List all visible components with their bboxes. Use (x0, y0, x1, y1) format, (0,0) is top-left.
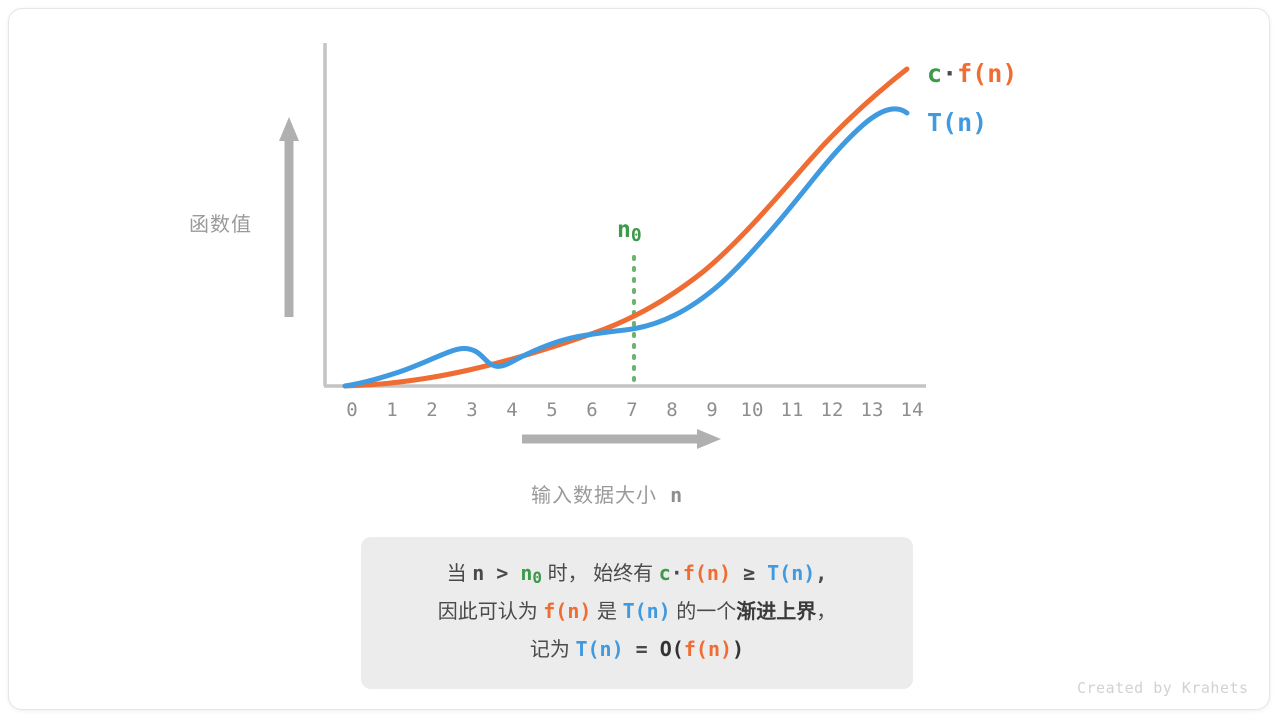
x-tick-0: 0 (337, 397, 367, 423)
x-tick-5: 5 (537, 397, 567, 423)
caption-line-1: 当 n > n0 时， 始终有 c·f(n) ≥ T(n), (371, 555, 903, 593)
x-axis-arrow (522, 429, 721, 449)
complexity-figure: 0 1 2 3 4 5 6 7 8 9 10 11 12 13 14 函数值 输… (9, 9, 1270, 710)
n0-label-base: n (617, 217, 631, 243)
series-label-c: c (927, 59, 942, 88)
x-axis-label-text: 输入数据大小 (531, 485, 657, 507)
caption-l2-p1: 因此可认为 (438, 601, 544, 623)
caption-l1-n: n (472, 561, 484, 585)
x-tick-1: 1 (377, 397, 407, 423)
caption-l3-o: O( (660, 637, 684, 661)
series-label-tn: T(n) (927, 108, 987, 137)
n0-label: n0 (617, 217, 642, 243)
series-label-dot: · (942, 59, 957, 88)
caption-l2-p2: 是 (591, 601, 622, 623)
caption-line-2: 因此可认为 f(n) 是 T(n) 的一个渐进上界， (371, 593, 903, 631)
caption-l3-p1: 记为 (530, 639, 576, 661)
caption-l2-f: f(n) (543, 599, 591, 623)
caption-l2-t: T(n) (623, 599, 671, 623)
figure-frame: 0 1 2 3 4 5 6 7 8 9 10 11 12 13 14 函数值 输… (8, 8, 1270, 710)
x-tick-4: 4 (497, 397, 527, 423)
caption-l1-ge: ≥ (731, 561, 767, 585)
x-tick-7: 7 (617, 397, 647, 423)
caption-l2-p3: 的一个 (671, 601, 737, 623)
y-axis-label: 函数值 (189, 208, 252, 237)
x-tick-13: 13 (857, 397, 887, 423)
caption-l3-f: f(n) (684, 637, 732, 661)
x-tick-14: 14 (897, 397, 927, 423)
caption-l1-t: T(n) (767, 561, 815, 585)
caption-l3-t: T(n) (575, 637, 623, 661)
caption-l3-eq: = (624, 637, 660, 661)
caption-l1-c: c (659, 561, 671, 585)
x-tick-9: 9 (697, 397, 727, 423)
x-tick-12: 12 (817, 397, 847, 423)
caption-l2-bold: 渐进上界 (736, 601, 816, 623)
credit-text: Created by Krahets (1077, 679, 1249, 697)
caption-l2-comma: ， (816, 601, 836, 623)
x-axis-label: 输入数据大小 n (531, 479, 683, 508)
caption-line-3: 记为 T(n) = O(f(n)) (371, 631, 903, 669)
caption-l1-dot: · (671, 561, 683, 585)
x-tick-3: 3 (457, 397, 487, 423)
caption-l3-close: ) (732, 637, 744, 661)
x-tick-10: 10 (737, 397, 767, 423)
x-tick-2: 2 (417, 397, 447, 423)
caption-l1-comma: , (815, 561, 827, 585)
series-label-fn: f(n) (957, 59, 1017, 88)
caption-panel: 当 n > n0 时， 始终有 c·f(n) ≥ T(n), 因此可认为 f(n… (361, 537, 913, 689)
x-tick-11: 11 (777, 397, 807, 423)
series-label-cfn: c·f(n) (927, 59, 1017, 88)
x-tick-8: 8 (657, 397, 687, 423)
caption-l1-p2: 时， 始终有 (542, 563, 659, 585)
y-axis-arrow (279, 117, 299, 317)
x-axis-label-var: n (670, 483, 683, 507)
caption-l1-f: f(n) (683, 561, 731, 585)
caption-l1-n0: n (520, 561, 532, 585)
x-axis-ticks: 0 1 2 3 4 5 6 7 8 9 10 11 12 13 14 (324, 397, 934, 427)
caption-l1-n0-sub: 0 (532, 568, 542, 587)
x-tick-6: 6 (577, 397, 607, 423)
curve-tn (345, 109, 907, 386)
caption-l1-gt: > (484, 561, 520, 585)
caption-l1-p1: 当 (447, 563, 473, 585)
n0-label-subscript: 0 (631, 225, 642, 246)
